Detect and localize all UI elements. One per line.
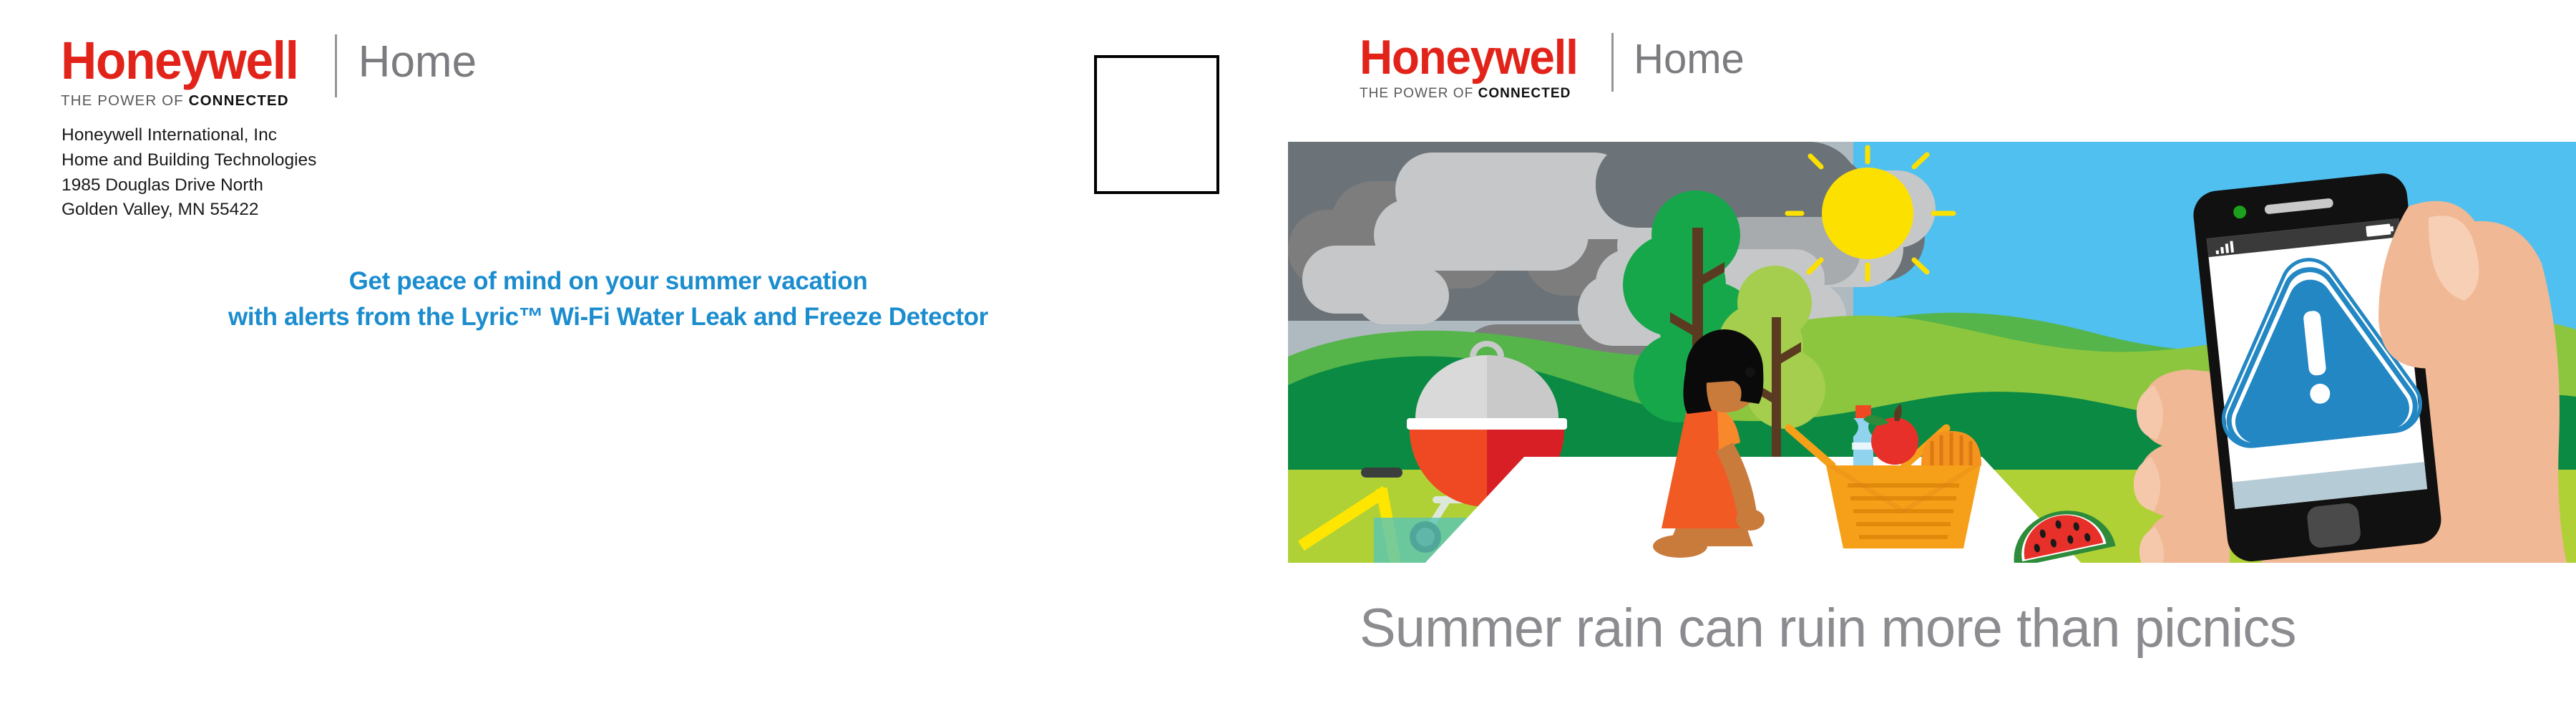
tagline-bold-part: CONNECTED [1478, 86, 1571, 101]
logo-divider [335, 34, 337, 97]
blue-headline-line-1: Get peace of mind on your summer vacatio… [0, 263, 1216, 299]
sub-brand-home: Home [358, 40, 477, 84]
gray-headline: Summer rain can ruin more than picnics [1360, 601, 2296, 656]
return-address-line-3: 1985 Douglas Drive North [62, 173, 316, 198]
honeywell-logo-lockup-left: Honeywell THE POWER OF CONNECTED Home [61, 34, 477, 110]
honeywell-tagline: THE POWER OF CONNECTED [1360, 86, 1591, 102]
return-address-line-4: Golden Valley, MN 55422 [62, 198, 316, 223]
honeywell-logo-right: Honeywell THE POWER OF CONNECTED [1360, 33, 1591, 102]
honeywell-tagline: THE POWER OF CONNECTED [61, 92, 313, 110]
picnic-illustration-svg [1288, 142, 2576, 563]
blue-headline: Get peace of mind on your summer vacatio… [0, 263, 1216, 334]
picnic-illustration [1288, 142, 2576, 563]
tagline-bold-part: CONNECTED [189, 92, 289, 109]
blue-headline-line-2: with alerts from the Lyric™ Wi-Fi Water … [0, 299, 1216, 335]
tagline-light-part: THE POWER OF [1360, 86, 1478, 101]
return-address-block: Honeywell International, Inc Home and Bu… [62, 123, 316, 223]
honeywell-wordmark: Honeywell [61, 34, 298, 87]
logo-divider [1611, 33, 1614, 92]
postcard-page: Honeywell THE POWER OF CONNECTED Home Ho… [0, 0, 2576, 716]
honeywell-logo-lockup-right: Honeywell THE POWER OF CONNECTED Home [1360, 33, 1745, 102]
return-address-line-2: Home and Building Technologies [62, 148, 316, 173]
honeywell-wordmark: Honeywell [1360, 33, 1578, 82]
honeywell-logo-left: Honeywell THE POWER OF CONNECTED [61, 34, 313, 110]
return-address-line-1: Honeywell International, Inc [62, 123, 316, 148]
sub-brand-home: Home [1634, 39, 1745, 80]
tagline-light-part: THE POWER OF [61, 92, 189, 109]
postage-stamp-box [1094, 55, 1219, 194]
home-button [2306, 502, 2362, 548]
